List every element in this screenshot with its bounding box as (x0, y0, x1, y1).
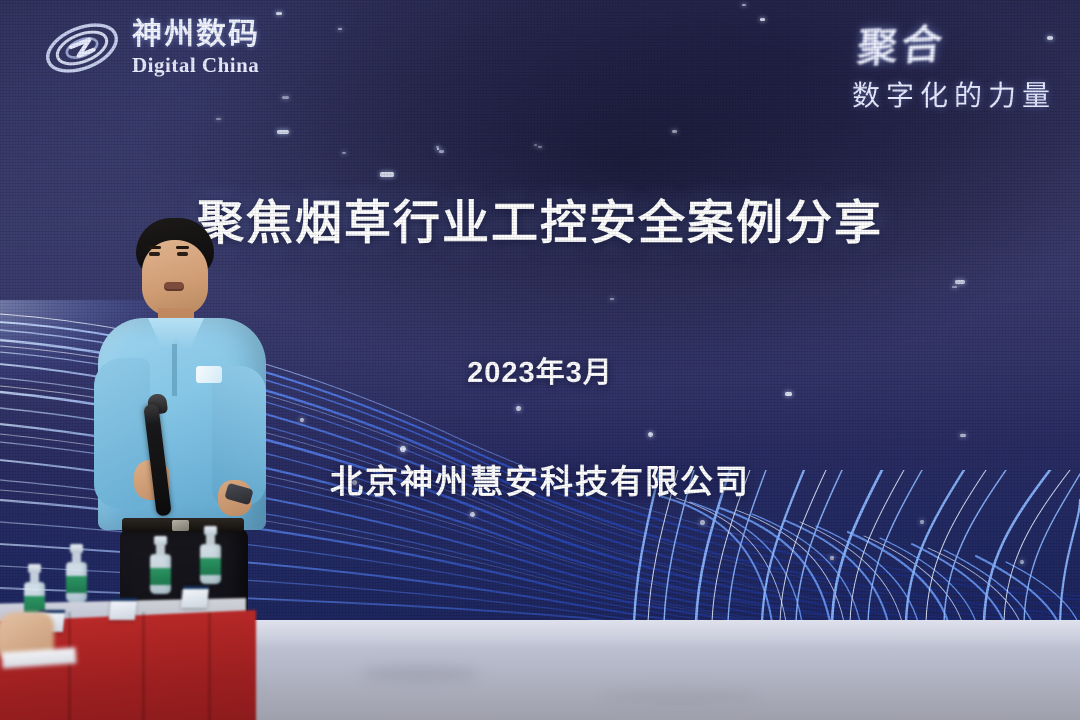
swirl-galaxy-logo-icon (42, 16, 122, 80)
water-bottle (150, 536, 171, 594)
name-placard (109, 598, 137, 620)
slogan-brush-text: 聚合 (849, 12, 949, 75)
slogan-sub-text: 数字化的力量 (852, 74, 1056, 114)
speaker-belt-buckle (172, 520, 189, 531)
water-bottle (66, 544, 87, 602)
speaker-person (88, 218, 278, 622)
brand-name-en: Digital China (132, 55, 260, 76)
brand-logo: 神州数码 Digital China (42, 16, 260, 80)
speaker-eye-left (149, 252, 160, 256)
name-placard (181, 586, 209, 608)
conference-stage-photo: 神州数码 Digital China 聚合 数字化的力量 聚焦烟草行业工控安全案… (0, 0, 1080, 720)
brand-name-cn: 神州数码 (132, 20, 260, 50)
event-slogan: 聚合 数字化的力量 (852, 14, 1056, 114)
water-bottle (200, 526, 221, 584)
speaker-eyebrow-right (176, 246, 189, 249)
speaker-eyebrow-left (148, 246, 161, 249)
speaker-shirt-placket (172, 344, 177, 396)
speaker-chest-logo-icon (196, 366, 222, 383)
speaker-eye-right (177, 252, 188, 256)
speaker-mouth (164, 282, 184, 291)
